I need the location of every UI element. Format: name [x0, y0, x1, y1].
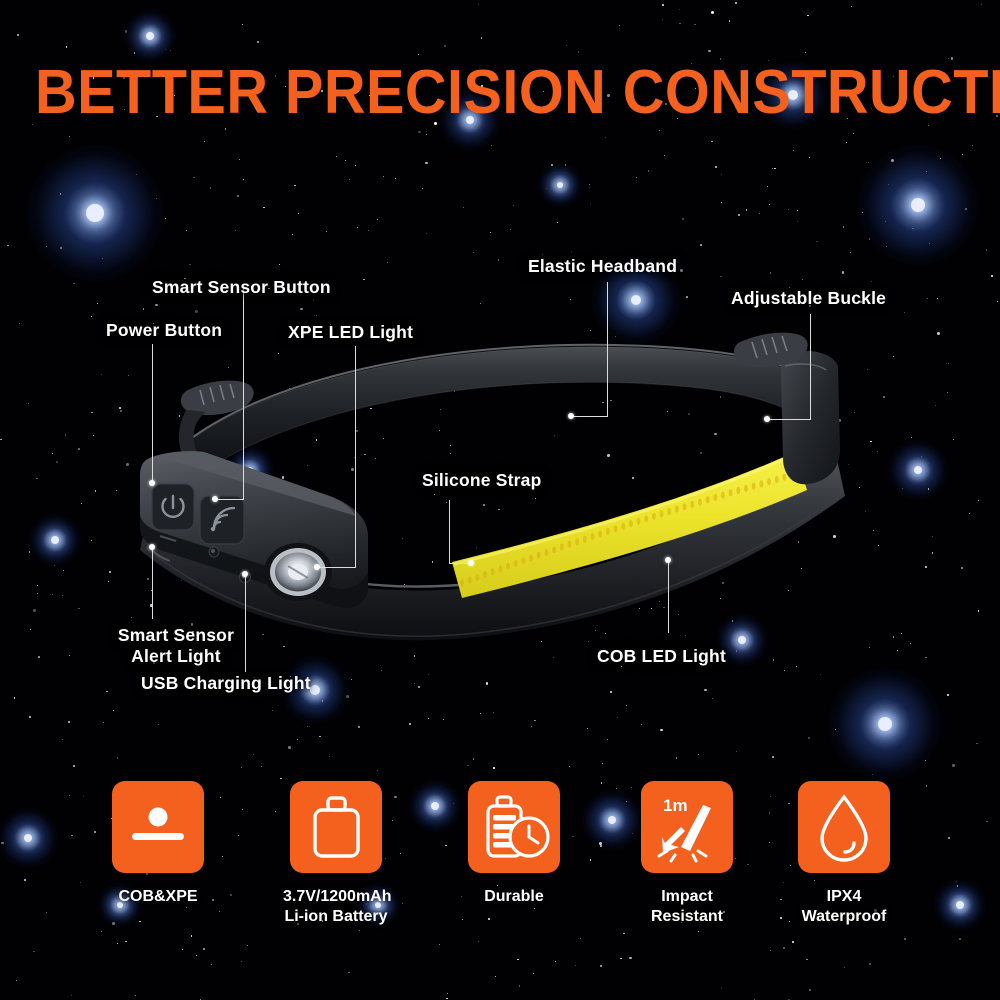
battery-clock-icon: [468, 781, 560, 873]
leader-dot-usb-charging-light: [242, 571, 248, 577]
leader-line-power-button: [152, 344, 153, 484]
callout-label-xpe-led-light: XPE LED Light: [288, 322, 413, 343]
led-dot-bar-icon: [112, 781, 204, 873]
feature-label-ipx4-waterproof: IPX4 Waterproof: [791, 887, 897, 927]
leader-dot-silicone-strap: [468, 560, 474, 566]
leader-dot-alert-light: [149, 544, 155, 550]
feature-ipx4-waterproof[interactable]: IPX4 Waterproof: [791, 770, 897, 927]
leader-dot-power-button: [149, 480, 155, 486]
battery-tile: [290, 781, 382, 873]
ipx4-waterproof-tile: [798, 781, 890, 873]
leader-dot-cob-led-light: [665, 557, 671, 563]
drop-impact-icon: 1m: [641, 781, 733, 873]
leader-dot-elastic-headband: [568, 413, 574, 419]
callout-label-usb-charging-light: USB Charging Light: [141, 673, 311, 694]
feature-battery[interactable]: 3.7V/1200mAh Li-ion Battery: [283, 770, 389, 927]
leader-line-cob-led-light: [668, 560, 669, 633]
leader-line-xpe-led-v: [355, 346, 356, 568]
feature-label-cob-xpe: COB&XPE: [105, 887, 211, 907]
callout-label-elastic-headband: Elastic Headband: [528, 256, 677, 277]
leader-dot-adjustable-buckle: [764, 416, 770, 422]
feature-durable[interactable]: Durable: [461, 770, 567, 907]
cob-xpe-tile: [112, 781, 204, 873]
leader-line-alert-light: [152, 547, 153, 619]
leader-line-xpe-led-h: [318, 567, 356, 568]
battery-icon: [290, 781, 382, 873]
callout-label-cob-led-light: COB LED Light: [597, 646, 726, 667]
feature-label-durable: Durable: [461, 887, 567, 907]
leader-dot-smart-sensor-button: [212, 496, 218, 502]
water-drop-icon: [798, 781, 890, 873]
leader-line-elastic-headband-h: [572, 416, 608, 417]
callout-label-smart-sensor-alert-light: Smart Sensor Alert Light: [88, 625, 264, 667]
leader-line-adjustable-buckle-v: [810, 314, 811, 420]
callout-label-silicone-strap: Silicone Strap: [422, 470, 542, 491]
leader-line-smart-sensor-button-h: [216, 499, 244, 500]
callout-label-adjustable-buckle: Adjustable Buckle: [731, 288, 886, 309]
leader-line-silicone-strap-v: [449, 500, 450, 564]
feature-impact-resistant[interactable]: 1m Impact Resistant: [634, 770, 740, 927]
leader-line-elastic-headband-v: [607, 282, 608, 417]
impact-badge-text: 1m: [663, 796, 688, 815]
durable-tile: [468, 781, 560, 873]
leader-dot-xpe-led: [314, 564, 320, 570]
feature-cob-xpe[interactable]: COB&XPE: [105, 770, 211, 907]
impact-resistant-tile: 1m: [641, 781, 733, 873]
feature-label-battery: 3.7V/1200mAh Li-ion Battery: [283, 887, 389, 927]
infographic-canvas: BETTER PRECISION CONSTRUCTION: [0, 0, 1000, 1000]
page-title: BETTER PRECISION CONSTRUCTION: [35, 62, 965, 124]
callout-label-power-button: Power Button: [106, 320, 222, 341]
leader-line-smart-sensor-button-v: [243, 288, 244, 500]
callout-label-smart-sensor-button: Smart Sensor Button: [152, 277, 331, 298]
feature-row: COB&XPE 3.7V/1200mAh Li-ion Battery: [0, 770, 1000, 940]
feature-label-impact-resistant: Impact Resistant: [634, 887, 740, 927]
leader-line-adjustable-buckle-h: [768, 419, 811, 420]
